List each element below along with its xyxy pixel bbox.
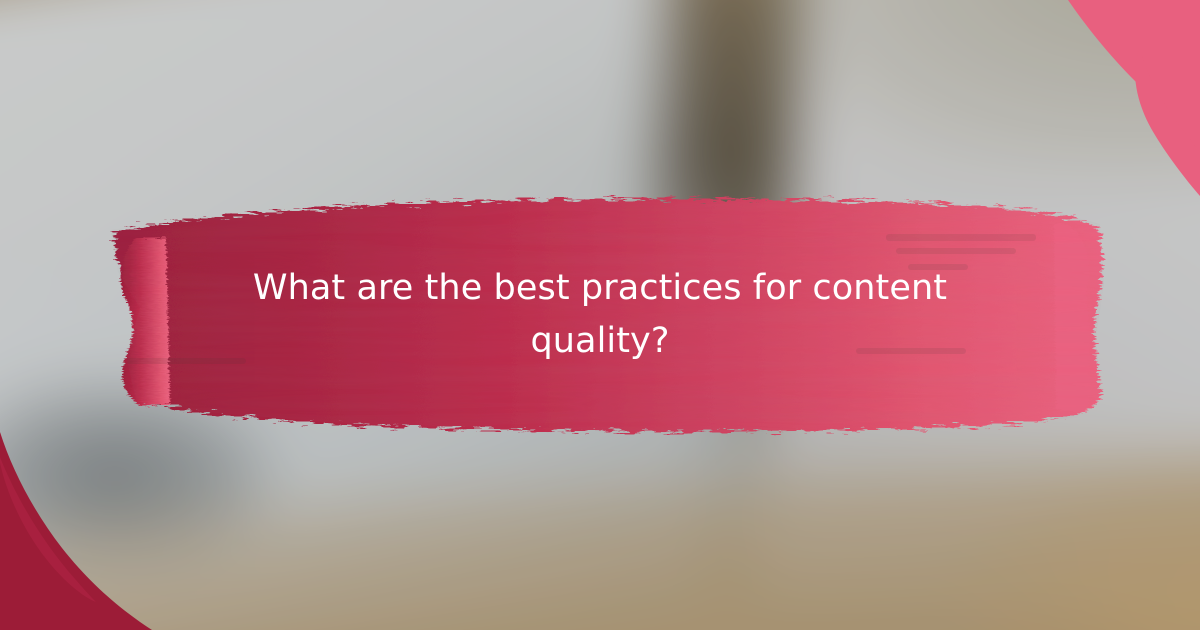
og-image-canvas: What are the best practices for content …: [0, 0, 1200, 630]
page-title: What are the best practices for content …: [200, 262, 1000, 368]
